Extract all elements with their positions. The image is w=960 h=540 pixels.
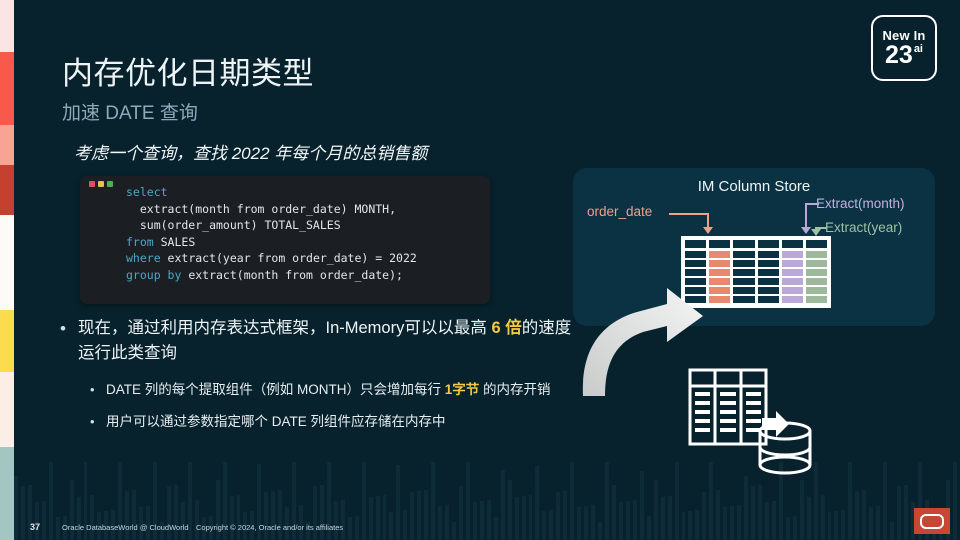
arrowhead-extract-year (811, 229, 821, 236)
intro-text: 考虑一个查询，查找 2022 年每个月的总销售额 (74, 139, 427, 164)
color-strip-segment-4 (0, 215, 14, 310)
panel-title: IM Column Store (573, 178, 935, 195)
column-cell (782, 251, 803, 258)
badge-line-2: 23ai (885, 43, 923, 68)
color-strip-segment-6 (0, 372, 14, 447)
column-cell (806, 287, 827, 294)
sql-code-text: select extract(month from order_date) MO… (126, 184, 484, 284)
column-header (685, 240, 706, 248)
oracle-logo (914, 508, 950, 534)
connector-extract-month-v (805, 203, 807, 229)
bullet-dot: • (60, 316, 78, 341)
column-cell (709, 260, 730, 267)
column-store-column-4 (782, 240, 803, 304)
table-to-database-icon (688, 368, 818, 478)
left-color-strip (0, 0, 14, 540)
column-header (733, 240, 754, 248)
column-header (709, 240, 730, 248)
oracle-logo-oval (920, 514, 944, 529)
footer-copyright: Copyright © 2024, Oracle and/or its affi… (196, 523, 343, 532)
column-cell (782, 296, 803, 303)
column-cell (806, 278, 827, 285)
bullet-sub-1-highlight: 1字节 (445, 382, 480, 397)
label-order-date: order_date (587, 204, 652, 219)
footer-event: Oracle DatabaseWorld @ CloudWorld (62, 523, 189, 532)
sql-text: extract(month from order_date) MONTH, (126, 202, 396, 216)
badge-suffix: ai (914, 44, 923, 55)
column-cell (758, 269, 779, 276)
sql-keyword: select (126, 185, 168, 199)
color-strip-segment-0 (0, 0, 14, 52)
sql-keyword: where (126, 251, 161, 265)
page-subtitle: 加速 DATE 查询 (62, 98, 198, 125)
bullet-sub-1-text: DATE 列的每个提取组件（例如 MONTH）只会增加每行 1字节 的内存开销 (106, 379, 551, 401)
arrowhead-extract-month (801, 227, 811, 234)
column-cell (758, 278, 779, 285)
window-dot-1 (98, 181, 104, 187)
bullet-sub-1-post: 的内存开销 (479, 382, 550, 397)
sql-text: extract(month from order_date); (181, 268, 403, 282)
arrowhead-order-date (703, 227, 713, 234)
column-cell (806, 251, 827, 258)
window-dot-2 (107, 181, 113, 187)
column-store-column-5 (806, 240, 827, 304)
bullet-main-pre: 现在，通过利用内存表达式框架，In-Memory可以以最高 (78, 319, 491, 337)
color-strip-segment-3 (0, 165, 14, 215)
color-strip-segment-1 (0, 52, 14, 125)
column-cell (709, 251, 730, 258)
slide-canvas: 内存优化日期类型 加速 DATE 查询 New In 23ai 考虑一个查询，查… (0, 0, 960, 540)
column-cell (806, 260, 827, 267)
column-cell (782, 278, 803, 285)
column-cell (685, 260, 706, 267)
code-line: extract(month from order_date) MONTH, (126, 201, 484, 218)
new-in-23ai-badge: New In 23ai (871, 15, 937, 81)
page-number: 37 (30, 522, 40, 532)
badge-version: 23 (885, 43, 913, 68)
bullet-main-highlight: 6 倍 (491, 319, 521, 337)
color-strip-segment-5 (0, 310, 14, 372)
bullet-sub-1: • DATE 列的每个提取组件（例如 MONTH）只会增加每行 1字节 的内存开… (60, 379, 580, 401)
connector-extract-month-h (805, 203, 819, 205)
code-line: select (126, 184, 484, 201)
label-extract-month: Extract(month) (816, 196, 905, 211)
column-cell (806, 269, 827, 276)
bullet-dot: • (90, 411, 106, 433)
connector-order-date-h (669, 213, 709, 215)
code-line: group by extract(month from order_date); (126, 267, 484, 284)
column-cell (685, 251, 706, 258)
column-cell (733, 251, 754, 258)
column-cell (758, 287, 779, 294)
sql-keyword: from (126, 235, 154, 249)
column-store-column-3 (758, 240, 779, 304)
column-cell (782, 260, 803, 267)
page-title: 内存优化日期类型 (62, 48, 314, 93)
code-line: where extract(year from order_date) = 20… (126, 250, 484, 267)
label-extract-year: Extract(year) (825, 220, 902, 235)
column-cell (733, 260, 754, 267)
sql-code-card: select extract(month from order_date) MO… (80, 176, 490, 304)
bullet-dot: • (90, 379, 106, 401)
column-cell (758, 260, 779, 267)
bullet-sub-2-text: 用户可以通过参数指定哪个 DATE 列组件应存储在内存中 (106, 411, 446, 433)
code-line: sum(order_amount) TOTAL_SALES (126, 217, 484, 234)
color-strip-segment-2 (0, 125, 14, 165)
sql-text: SALES (154, 235, 196, 249)
sql-text: sum(order_amount) TOTAL_SALES (126, 218, 341, 232)
column-cells (806, 250, 827, 304)
column-cell (758, 296, 779, 303)
bullet-sub-2: • 用户可以通过参数指定哪个 DATE 列组件应存储在内存中 (60, 411, 580, 433)
footer: 37 Oracle DatabaseWorld @ CloudWorld Cop… (0, 508, 960, 540)
column-cell (758, 251, 779, 258)
window-dots (89, 181, 113, 187)
column-cells (758, 250, 779, 304)
bullet-sub-1-pre: DATE 列的每个提取组件（例如 MONTH）只会增加每行 (106, 382, 445, 397)
column-header (806, 240, 827, 248)
sql-keyword: group by (126, 268, 181, 282)
sql-text: extract(year from order_date) = 2022 (161, 251, 417, 265)
column-cells (782, 250, 803, 304)
bullet-list: • 现在，通过利用内存表达式框架，In-Memory可以以最高 6 倍的速度运行… (60, 316, 580, 433)
bullet-main: • 现在，通过利用内存表达式框架，In-Memory可以以最高 6 倍的速度运行… (60, 316, 580, 366)
column-cell (806, 296, 827, 303)
column-header (782, 240, 803, 248)
badge-line-1: New In (882, 29, 925, 42)
column-cell (782, 287, 803, 294)
column-header (758, 240, 779, 248)
window-dot-0 (89, 181, 95, 187)
bullet-main-text: 现在，通过利用内存表达式框架，In-Memory可以以最高 6 倍的速度运行此类… (78, 316, 580, 366)
code-line: from SALES (126, 234, 484, 251)
column-cell (782, 269, 803, 276)
